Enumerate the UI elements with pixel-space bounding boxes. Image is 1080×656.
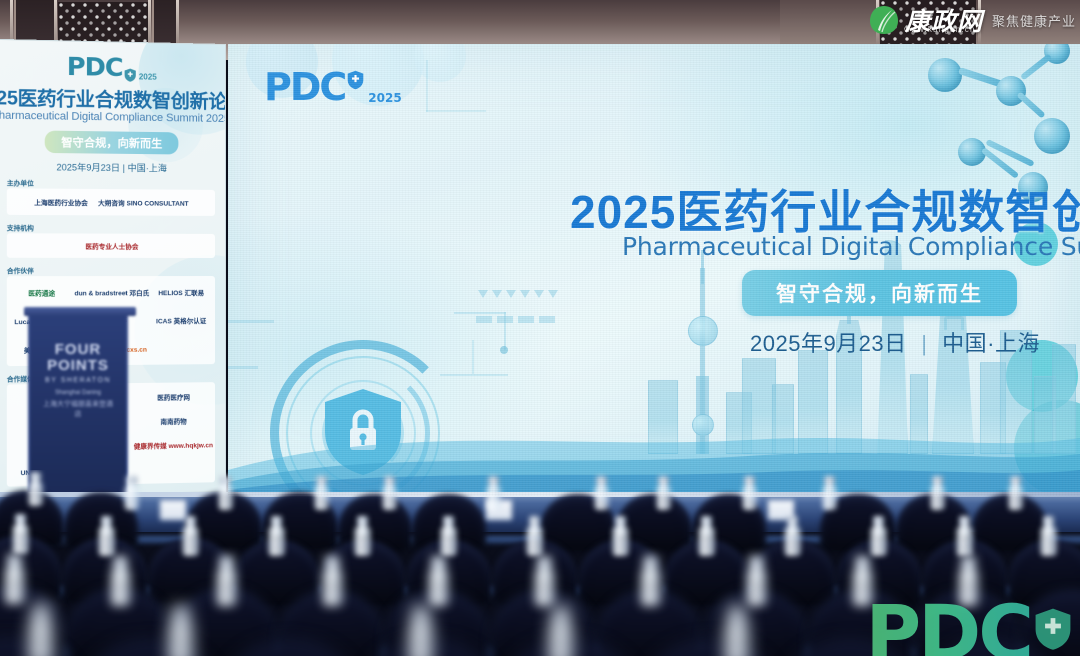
water-bottle xyxy=(956,516,973,556)
water-bottle xyxy=(656,476,671,510)
water-bottle xyxy=(534,556,555,606)
poster-pdc-logo: PDC 2025 xyxy=(67,52,157,83)
site-watermark: 康政网 聚焦健康产业 www.kangan.cn xyxy=(868,2,1076,38)
circuit-trace xyxy=(426,110,486,112)
shield-cross-icon xyxy=(125,68,137,82)
footer-logo-text: PDC xyxy=(865,601,1031,656)
poster-section-label-partners: 合作伙伴 xyxy=(7,265,34,275)
hotel-brand-line3: Shanghai Daning xyxy=(42,390,114,396)
water-bottle xyxy=(640,556,661,606)
bar-row-decoration xyxy=(476,316,555,323)
sponsor-logo: 医药通途 xyxy=(28,287,55,297)
conference-hall-scene: PDC 2025 2025医药行业合规数智创新论坛 Pharmaceutical… xyxy=(0,0,1080,656)
circuit-trace xyxy=(440,374,508,376)
water-bottle xyxy=(268,516,285,556)
circuit-trace xyxy=(426,60,428,112)
water-bottle xyxy=(612,516,629,556)
water-bottle xyxy=(110,556,131,606)
water-bottle-foreground xyxy=(28,604,54,656)
water-bottle-foreground xyxy=(724,606,750,656)
water-bottle xyxy=(526,516,543,556)
water-bottle xyxy=(428,556,449,606)
water-bottle-foreground xyxy=(548,606,574,656)
molecule-node xyxy=(1034,118,1070,154)
water-bottle xyxy=(314,476,329,510)
watermark-url: www.kangan.cn xyxy=(904,25,976,34)
molecule-bond xyxy=(1016,91,1045,118)
hotel-brand-line4: 上海大宁福朋喜来登酒店 xyxy=(42,399,114,419)
water-bottle xyxy=(486,476,501,510)
water-bottle xyxy=(440,516,457,556)
screen-pdc-logo: PDC 2025 xyxy=(264,70,402,104)
circuit-trace xyxy=(228,320,274,323)
water-bottle-foreground xyxy=(408,606,434,656)
water-bottle xyxy=(354,516,371,556)
water-bottle xyxy=(1008,476,1023,510)
water-bottle xyxy=(1040,516,1057,556)
water-bottle xyxy=(746,556,767,606)
molecule-node xyxy=(928,58,962,92)
poster-section-label-support: 支持机构 xyxy=(7,222,34,232)
watermark-tagline: 聚焦健康产业 xyxy=(992,11,1076,30)
screen-logo-text: PDC xyxy=(264,70,345,104)
poster-title-en: Pharmaceutical Digital Compliance Summit… xyxy=(0,109,226,125)
screen-tagline-badge: 智守合规，向新而生 xyxy=(742,270,1017,316)
water-bottle xyxy=(98,516,115,556)
footer-pdc-watermark: PDC xyxy=(865,601,1072,656)
led-stage-screen: PDC 2025 xyxy=(228,44,1080,496)
molecule-node xyxy=(996,76,1026,106)
sponsor-logo: 健康界传媒 www.hqkjw.cn xyxy=(134,439,213,450)
shield-cross-icon xyxy=(1034,607,1072,651)
poster-logo-text: PDC xyxy=(67,52,123,82)
podium-top-surface xyxy=(24,307,136,316)
water-bottle xyxy=(12,514,29,554)
podium-hotel-branding: FOUR POINTS BY SHERATON Shanghai Daning … xyxy=(42,342,114,419)
water-bottle xyxy=(698,516,715,556)
water-bottle xyxy=(742,476,757,510)
water-bottle xyxy=(594,476,609,510)
poster-date-line: 2025年9月23日 | 中国·上海 xyxy=(56,160,167,174)
hotel-brand-line1: FOUR POINTS xyxy=(42,342,114,374)
screen-logo-year: 2025 xyxy=(368,91,401,105)
sponsor-logo: 大朔咨询 SINO CONSULTANT xyxy=(98,197,189,208)
sponsor-logo: ICAS 英格尔认证 xyxy=(156,315,206,325)
screen-location: 中国·上海 xyxy=(942,331,1040,356)
water-bottle xyxy=(4,554,25,604)
poster-organizer-logos: 上海医药行业协会 大朔咨询 SINO CONSULTANT xyxy=(7,188,215,216)
water-bottle xyxy=(182,516,199,556)
shield-cross-icon xyxy=(347,70,364,90)
pearl-tower-sphere xyxy=(688,316,718,346)
bubble-decoration xyxy=(414,44,466,82)
circuit-node xyxy=(500,346,508,354)
water-bottle xyxy=(784,516,801,556)
molecule-bond xyxy=(1020,54,1052,81)
sponsor-logo: 医药医疗网 xyxy=(157,391,190,401)
screen-date: 2025年9月23日 xyxy=(750,331,907,356)
sponsor-logo: dun & bradstreet 邓白氏 xyxy=(74,287,149,297)
water-bottle xyxy=(822,476,837,510)
hotel-brand-line2: BY SHERATON xyxy=(42,377,114,384)
water-bottle xyxy=(28,472,43,506)
water-bottle xyxy=(870,516,887,556)
poster-support-logos: 医药专业人士协会 xyxy=(7,233,215,258)
poster-section-label-organizer: 主办单位 xyxy=(7,177,34,187)
water-bottle xyxy=(322,556,343,606)
sponsor-logo: 医药专业人士协会 xyxy=(85,241,138,251)
circuit-trace xyxy=(472,340,474,374)
circuit-trace xyxy=(454,312,506,314)
poster-tagline: 智守合规，向新而生 xyxy=(45,131,179,155)
water-bottle xyxy=(124,476,139,510)
circuit-trace xyxy=(228,366,258,369)
water-bottle xyxy=(218,476,233,510)
water-bottle-foreground xyxy=(168,606,194,656)
poster-logo-year: 2025 xyxy=(139,72,157,81)
triangle-row-decoration xyxy=(478,290,558,298)
water-bottle xyxy=(382,476,397,510)
sponsor-logo: 上海医药行业协会 xyxy=(34,197,88,208)
screen-datetime-line: 2025年9月23日 | 中国·上海 xyxy=(750,326,1040,358)
sponsor-logo: HELIOS 汇联易 xyxy=(158,287,204,297)
screen-divider: | xyxy=(921,331,927,356)
water-bottle xyxy=(216,556,237,606)
water-bottle xyxy=(930,476,945,510)
green-leaf-icon xyxy=(868,4,900,36)
sponsor-logo: 南南药物 xyxy=(160,415,186,425)
screen-title-en: Pharmaceutical Digital Compliance Summit… xyxy=(622,232,1080,261)
